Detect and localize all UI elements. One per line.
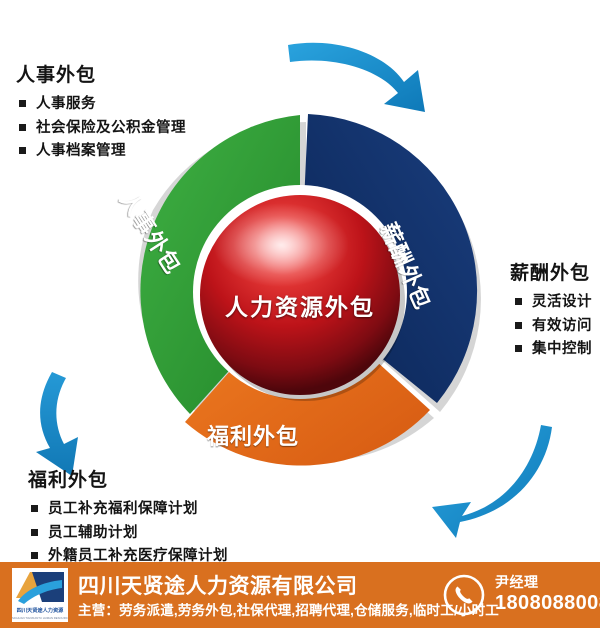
contact-phone-number: 18080880089 <box>495 591 600 615</box>
company-logo: 四川天贤途人力资源 SICHUAN TIANXIANTU HUMAN RESOU… <box>12 568 68 622</box>
square-bullet-icon <box>19 124 26 131</box>
list-item-label: 员工补充福利保障计划 <box>48 501 198 517</box>
block-welfare-heading: 福利外包 <box>28 465 228 492</box>
list-item-label: 社会保险及公积金管理 <box>36 120 186 136</box>
footer-contact: 尹经理 18080880089 <box>495 574 600 615</box>
list-item-label: 人事服务 <box>36 96 96 112</box>
list-item-label: 员工辅助计划 <box>48 525 138 541</box>
list-item-label: 有效访问 <box>532 318 592 334</box>
list-item: 社会保险及公积金管理 <box>16 120 186 137</box>
list-item: 员工补充福利保障计划 <box>28 501 228 518</box>
square-bullet-icon <box>19 147 26 154</box>
list-item-label: 灵活设计 <box>532 294 592 310</box>
block-welfare-list: 员工补充福利保障计划 员工辅助计划 外籍员工补充医疗保障计划 <box>28 501 228 565</box>
square-bullet-icon <box>515 322 522 329</box>
footer-bar: 四川天贤途人力资源 SICHUAN TIANXIANTU HUMAN RESOU… <box>0 562 600 628</box>
logo-caption-sub: SICHUAN TIANXIANTU HUMAN RESOURCES <box>12 615 68 622</box>
block-hr-list: 人事服务 社会保险及公积金管理 人事档案管理 <box>16 96 186 160</box>
text-block-pay: 薪酬外包 灵活设计 有效访问 集中控制 <box>512 258 592 365</box>
square-bullet-icon <box>19 100 26 107</box>
square-bullet-icon <box>515 345 522 352</box>
center-sphere-label: 人力资源外包 <box>85 288 515 322</box>
list-item: 灵活设计 <box>512 294 592 311</box>
segment-orange-label: 福利外包 <box>207 419 299 451</box>
logo-mark-icon <box>12 568 68 608</box>
block-pay-heading: 薪酬外包 <box>510 258 592 285</box>
block-hr-heading: 人事外包 <box>16 60 186 87</box>
block-pay-list: 灵活设计 有效访问 集中控制 <box>512 294 592 358</box>
list-item: 员工辅助计划 <box>28 525 228 542</box>
diagram-canvas: 人事外包 薪酬外包 福利外包 人力资源外包 人事外包 人事服务 社会保险及公积金… <box>0 0 600 628</box>
contact-person: 尹经理 <box>495 574 600 591</box>
square-bullet-icon <box>31 505 38 512</box>
text-block-welfare: 福利外包 员工补充福利保障计划 员工辅助计划 外籍员工补充医疗保障计划 <box>28 465 228 572</box>
footer-business-scope: 主营：劳务派遣,劳务外包,社保代理,招聘代理,仓储服务,临时工/小时工 <box>78 599 499 619</box>
footer-company-name: 四川天贤途人力资源有限公司 <box>78 570 358 600</box>
arrow-left-icon <box>36 372 78 476</box>
list-item: 人事档案管理 <box>16 143 186 160</box>
square-bullet-icon <box>31 552 38 559</box>
list-item: 集中控制 <box>512 341 592 358</box>
phone-icon <box>443 574 485 616</box>
list-item-label: 人事档案管理 <box>36 143 126 159</box>
square-bullet-icon <box>515 298 522 305</box>
arrow-top-icon <box>288 43 425 112</box>
square-bullet-icon <box>31 529 38 536</box>
text-block-hr: 人事外包 人事服务 社会保险及公积金管理 人事档案管理 <box>16 60 186 167</box>
list-item-label: 集中控制 <box>532 341 592 357</box>
list-item: 人事服务 <box>16 96 186 113</box>
list-item: 有效访问 <box>512 318 592 335</box>
